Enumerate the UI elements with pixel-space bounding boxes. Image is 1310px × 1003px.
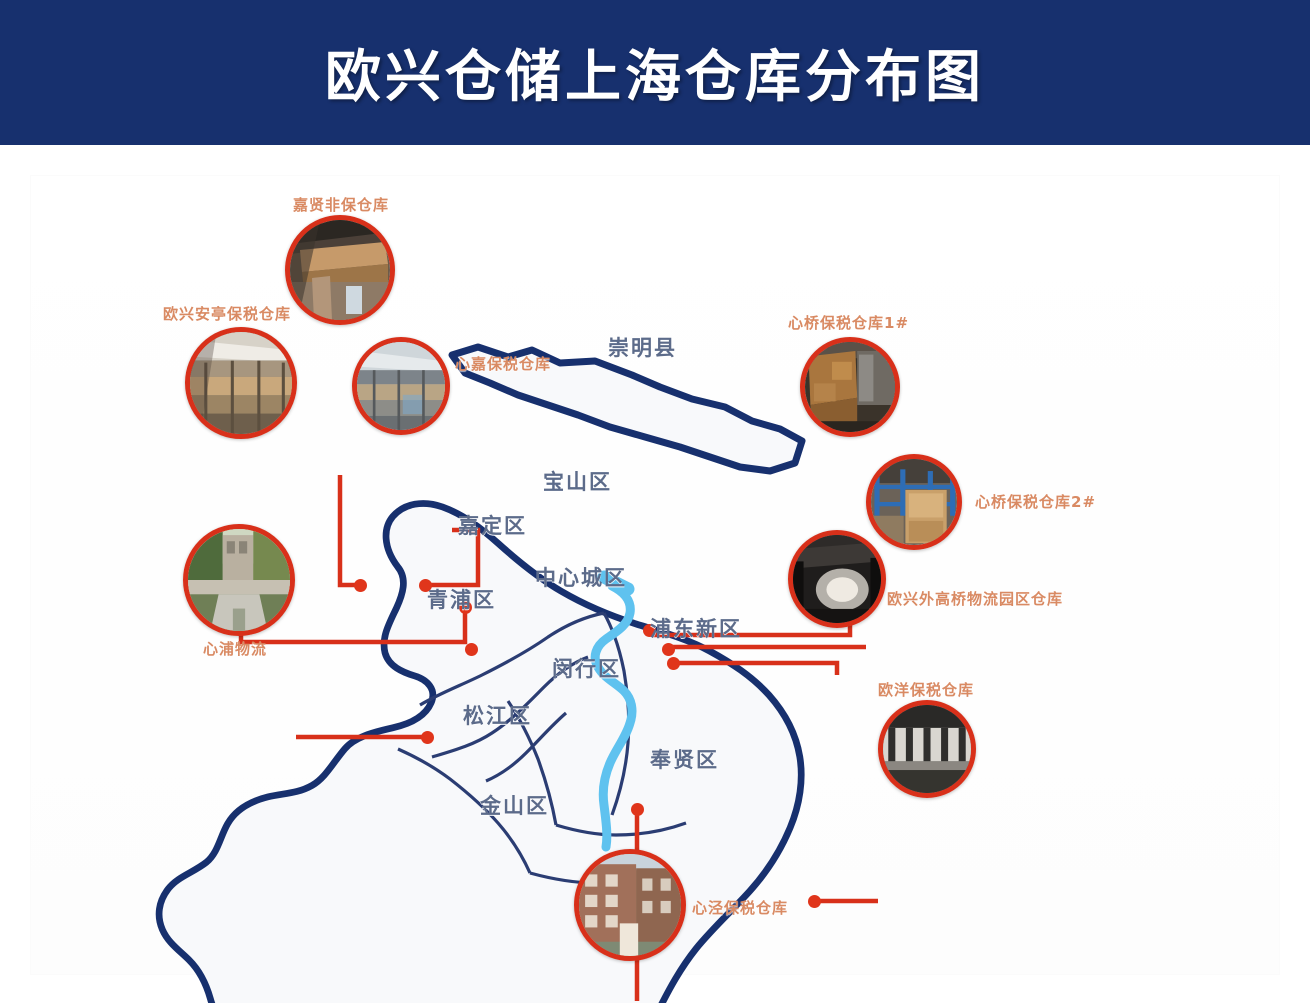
district-label-pudong: 浦东新区 [650, 613, 742, 643]
warehouse-photo-xinjing[interactable] [574, 849, 686, 961]
photo-building-exterior-brick [579, 854, 681, 956]
district-label-zhongxin: 中心城区 [535, 562, 627, 592]
marker-dot[interactable] [667, 657, 680, 670]
photo-building-exterior-green [188, 529, 290, 631]
photo-warehouse-racking-brown [290, 220, 390, 320]
district-label-minhang: 闵行区 [552, 653, 621, 683]
district-label-baoshan: 宝山区 [543, 466, 612, 496]
map-container: 崇明县 宝山区 嘉定区 中心城区 青浦区 浦东新区 闵行区 松江区 奉贤区 金山… [0, 145, 1310, 1003]
warehouse-photo-ouxing-anting[interactable] [185, 327, 297, 439]
page-title: 欧兴仓储上海仓库分布图 [0, 0, 1310, 145]
warehouse-label-xinqiao-2: 心桥保税仓库2# [975, 491, 1096, 512]
photo-warehouse-cartons-dark [805, 342, 895, 432]
warehouse-label-ouxing-anting: 欧兴安亭保税仓库 [163, 303, 291, 324]
warehouse-photo-xinpu[interactable] [183, 524, 295, 636]
district-label-fengxian: 奉贤区 [650, 744, 719, 774]
connector-jiaxian-feibao [340, 475, 360, 585]
warehouse-label-xinjia: 心嘉保税仓库 [455, 353, 551, 374]
district-label-jinshan: 金山区 [480, 790, 549, 820]
photo-warehouse-shelves-grey [357, 342, 445, 430]
warehouse-photo-ouyang[interactable] [878, 700, 976, 798]
marker-dot[interactable] [808, 895, 821, 908]
warehouse-label-xinjing: 心泾保税仓库 [692, 897, 788, 918]
warehouse-photo-xinjia[interactable] [352, 337, 450, 435]
warehouse-label-waigaoqiao: 欧兴外高桥物流园区仓库 [887, 588, 1063, 609]
warehouse-label-ouyang: 欧洋保税仓库 [878, 679, 974, 700]
warehouse-photo-xinqiao-1[interactable] [800, 337, 900, 437]
header-banner: 欧兴仓储上海仓库分布图 [0, 0, 1310, 145]
marker-dot[interactable] [662, 643, 675, 656]
district-label-songjiang: 松江区 [463, 700, 532, 730]
photo-warehouse-pallets-blue [871, 459, 957, 545]
marker-dot[interactable] [631, 803, 644, 816]
marker-dot[interactable] [421, 731, 434, 744]
warehouse-label-xinqiao-1: 心桥保税仓库1# [788, 312, 909, 333]
marker-dot[interactable] [354, 579, 367, 592]
district-label-jiading: 嘉定区 [458, 510, 527, 540]
district-label-qingpu: 青浦区 [427, 584, 496, 614]
district-label-chongming: 崇明县 [608, 332, 677, 362]
photo-warehouse-facade-stripes [883, 705, 971, 793]
warehouse-photo-jiaxian-feibao[interactable] [285, 215, 395, 325]
marker-dot[interactable] [465, 643, 478, 656]
photo-warehouse-aisle-lit [190, 332, 292, 434]
warehouse-label-xinpu: 心浦物流 [203, 638, 267, 659]
photo-warehouse-dark-tunnel [793, 535, 881, 623]
page-root: 欧兴仓储上海仓库分布图 [0, 0, 1310, 1003]
warehouse-label-jiaxian-feibao: 嘉贤非保仓库 [293, 194, 389, 215]
warehouse-photo-waigaoqiao[interactable] [788, 530, 886, 628]
